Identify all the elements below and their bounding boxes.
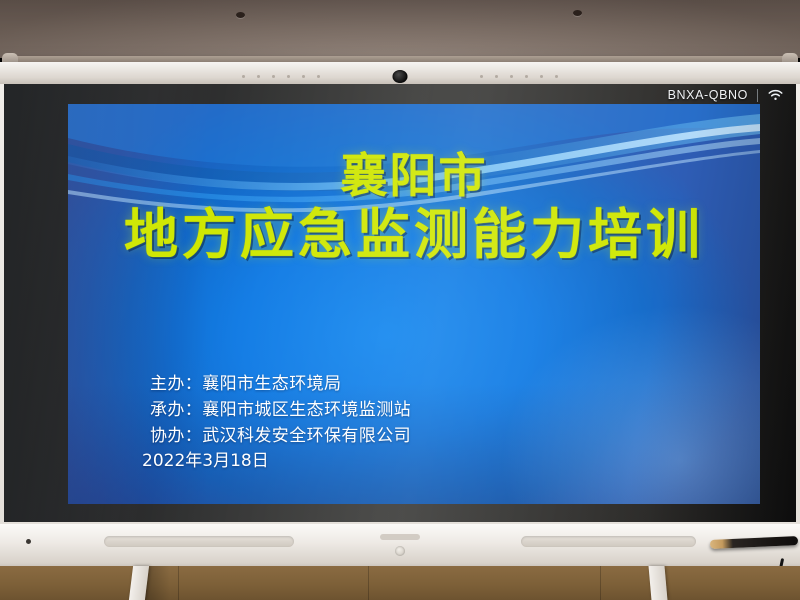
- presentation-slide[interactable]: 襄阳市 地方应急监测能力培训 主办：襄阳市生态环境局 承办：襄阳市城区生态环境监…: [68, 104, 760, 504]
- stylus-pen[interactable]: [710, 536, 798, 549]
- status-separator: [757, 89, 758, 102]
- wall-seam: [368, 566, 369, 600]
- status-bar: BNXA-QBNO: [668, 88, 784, 102]
- organizer-line: 主办：襄阳市生态环境局: [150, 372, 411, 398]
- interactive-smart-board: 襄阳市 地方应急监测能力培训 主办：襄阳市生态环境局 承办：襄阳市城区生态环境监…: [0, 62, 800, 570]
- slide-glow: [500, 304, 760, 504]
- top-bezel: [0, 62, 800, 84]
- ceiling-anchor-icon: [573, 10, 582, 16]
- speaker-grille-left: [104, 536, 294, 547]
- slide-body: 主办：襄阳市生态环境局 承办：襄阳市城区生态环境监测站 协办：武汉科发安全环保有…: [150, 372, 411, 475]
- stand-leg-right: [649, 566, 668, 600]
- wall-seam: [600, 566, 601, 600]
- brand-logo: [380, 534, 420, 540]
- power-button[interactable]: [395, 546, 405, 556]
- wifi-icon[interactable]: [767, 89, 784, 102]
- slide-date: 2022年3月18日: [142, 449, 411, 475]
- room-scene: 襄阳市 地方应急监测能力培训 主办：襄阳市生态环境局 承办：襄阳市城区生态环境监…: [0, 0, 800, 600]
- host-line: 承办：襄阳市城区生态环境监测站: [150, 398, 411, 424]
- title-line-2: 地方应急监测能力培训: [68, 206, 760, 263]
- lower-wall: [0, 566, 800, 600]
- ir-sensor-icon: [26, 539, 31, 544]
- co-organizer-line: 协办：武汉科发安全环保有限公司: [150, 424, 411, 450]
- ceiling-anchor-icon: [236, 12, 245, 18]
- microphone-array-left: [242, 75, 320, 78]
- speaker-grille-right: [521, 536, 696, 547]
- title-line-1: 襄阳市: [68, 152, 760, 202]
- microphone-array-right: [480, 75, 558, 78]
- bottom-bezel: [0, 524, 800, 570]
- board-camera-icon: [393, 70, 408, 83]
- slide-title: 襄阳市 地方应急监测能力培训: [68, 152, 760, 263]
- display-bezel: 襄阳市 地方应急监测能力培训 主办：襄阳市生态环境局 承办：襄阳市城区生态环境监…: [4, 84, 796, 522]
- network-name-label: BNXA-QBNO: [668, 88, 748, 102]
- wall-seam: [178, 566, 179, 600]
